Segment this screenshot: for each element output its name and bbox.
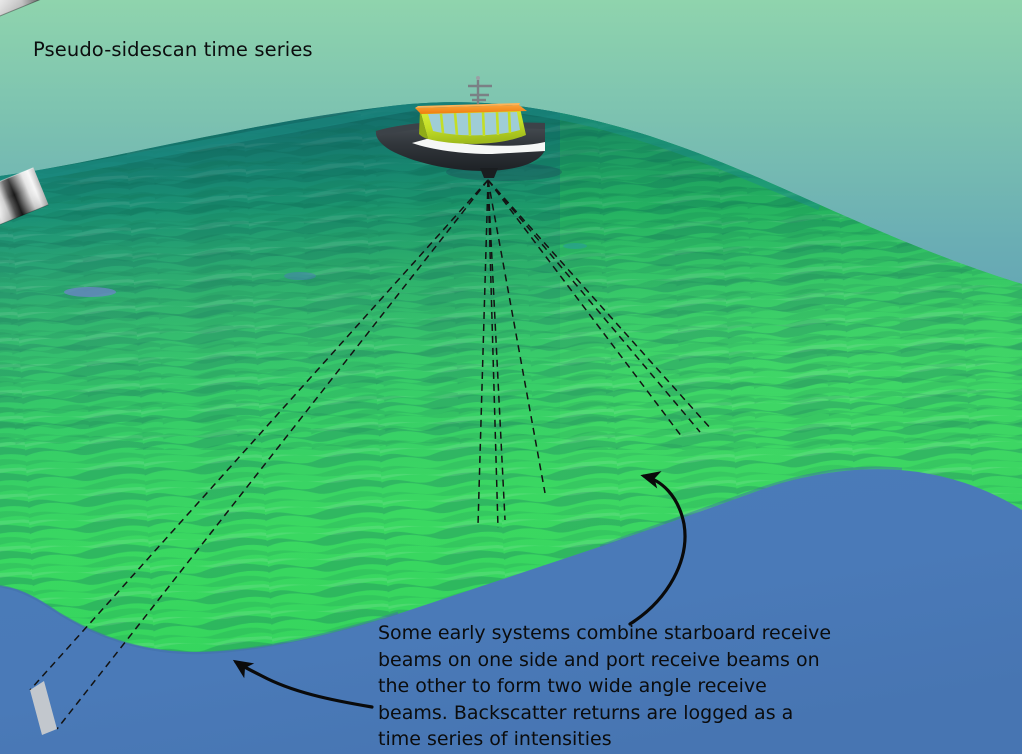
vessel-mast xyxy=(468,80,492,104)
caption-line: beams. Backscatter returns are logged as… xyxy=(378,700,898,727)
seafloor-low-patch xyxy=(563,243,587,249)
vessel-mast-light xyxy=(476,76,480,80)
caption-line: time series of intensities xyxy=(378,726,898,753)
caption-line: Some early systems combine starboard rec… xyxy=(378,620,898,647)
caption-line: beams on one side and port receive beams… xyxy=(378,647,898,674)
caption-text: Some early systems combine starboard rec… xyxy=(378,620,898,753)
seafloor-low-patch xyxy=(64,287,116,297)
figure-canvas: Pseudo-sidescan time series Some early s… xyxy=(0,0,1022,754)
page-title: Pseudo-sidescan time series xyxy=(33,38,313,61)
seafloor-low-patch xyxy=(284,272,316,280)
caption-line: the other to form two wide angle receive xyxy=(378,673,898,700)
